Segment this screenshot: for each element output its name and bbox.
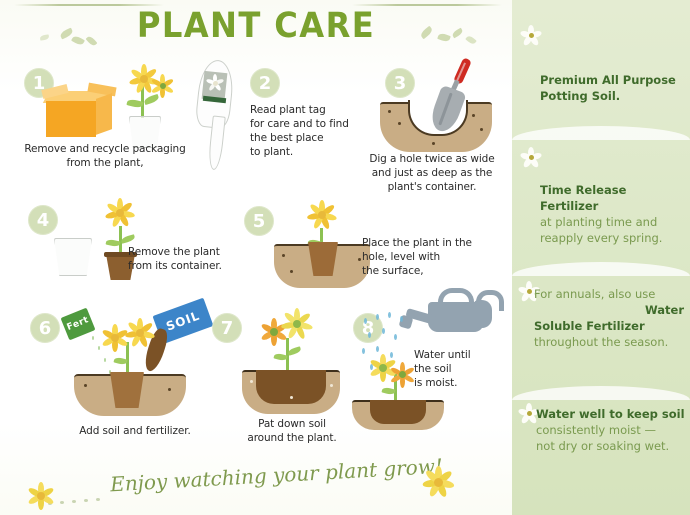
step-4-caption-line-1: Remove the plant [128,245,248,259]
step-3-trowel-and-hole [372,58,502,158]
step-5-caption: Place the plant in the hole, level with … [362,236,502,278]
step-1-potted-plant [108,58,180,148]
step-3-caption-line-1: Dig a hole twice as wide [352,152,512,166]
step-4-caption: Remove the plant from its container. [128,245,248,273]
panel-1-line-2: Potting Soil. [540,88,680,104]
step-8-caption-line-3: is moist. [414,376,514,390]
sidebar-panel-potting-soil: Premium All Purpose Potting Soil. [512,0,690,130]
step-7-caption-line-2: around the plant. [214,431,370,445]
panel-2-line-1: Time Release Fertilizer [540,182,680,214]
step-6-caption-line-1: Add soil and fertilizer. [40,424,230,438]
step-5-caption-line-1: Place the plant in the [362,236,502,250]
step-2-plant-tag [192,60,238,170]
step-6-illustration: Fert SOIL [56,300,216,430]
footer-message: Enjoy watching your plant grow! [110,456,411,497]
step-3-caption: Dig a hole twice as wide and just as dee… [352,152,512,194]
dotted-line [48,498,118,504]
footer: Enjoy watching your plant grow! [0,462,512,512]
panel-4-line-2: consistently moist — [536,422,686,438]
flower-icon [418,466,458,500]
panel-2-line-2: at planting time and [540,214,680,230]
panel-3-line-2: Water [534,302,684,318]
panel-4-line-3: not dry or soaking wet. [536,438,686,454]
step-2-caption-line-1: Read plant tag [250,103,370,117]
title-area: PLANT CARE [0,4,512,50]
step-1-caption: Remove and recycle packaging from the pl… [10,142,200,170]
panel-3-line-1: For annuals, also use [534,286,684,302]
step-badge-4: 4 [28,205,58,235]
sidebar-panel-watering-advice: Water well to keep soil consistently moi… [512,394,690,515]
plant-care-infographic: PLANT CARE 1 [0,0,690,515]
white-flower-icon [520,24,542,46]
step-8-caption-line-1: Water until [414,348,514,362]
panel-2-line-3: reapply every spring. [540,230,680,246]
step-3-caption-line-2: and just as deep as the [352,166,512,180]
flower-icon [24,482,58,512]
step-badge-2: 2 [250,68,280,98]
sidebar-panel-water-soluble-fertilizer: For annuals, also use Water Soluble Fert… [512,272,690,390]
step-5-caption-line-3: the surface, [362,264,502,278]
step-2-caption-line-3: the best place [250,131,370,145]
step-7-illustration [234,300,354,420]
white-flower-icon [520,146,542,168]
panel-3-line-4: throughout the season. [534,334,684,350]
step-6-caption: Add soil and fertilizer. [40,424,230,438]
step-2-caption-line-2: for care and to find [250,117,370,131]
panel-4-line-1: Water well to keep soil [536,406,686,422]
sidebar-panel-time-release-fertilizer: Time Release Fertilizer at planting time… [512,134,690,266]
fertilizer-bag: Fert [61,308,96,341]
step-8-caption-line-2: the soil [414,362,514,376]
panel-1-line-1: Premium All Purpose [540,72,680,88]
steps-area: PLANT CARE 1 [0,0,512,515]
step-4-empty-pot [52,238,94,280]
vine-line-left [14,4,164,6]
panel-3-line-3: Soluble Fertilizer [534,318,684,334]
step-1-caption-line-2: from the plant, [10,156,200,170]
step-8-caption: Water until the soil is moist. [414,348,514,390]
step-5-caption-line-2: hole, level with [362,250,502,264]
step-2-caption: Read plant tag for care and to find the … [250,103,370,159]
step-4-caption-line-2: from its container. [128,259,248,273]
step-1-caption-line-1: Remove and recycle packaging [10,142,200,156]
tips-sidebar: Premium All Purpose Potting Soil. Time R… [512,0,690,515]
step-3-caption-line-3: plant's container. [352,180,512,194]
vine-line-right [352,4,502,6]
